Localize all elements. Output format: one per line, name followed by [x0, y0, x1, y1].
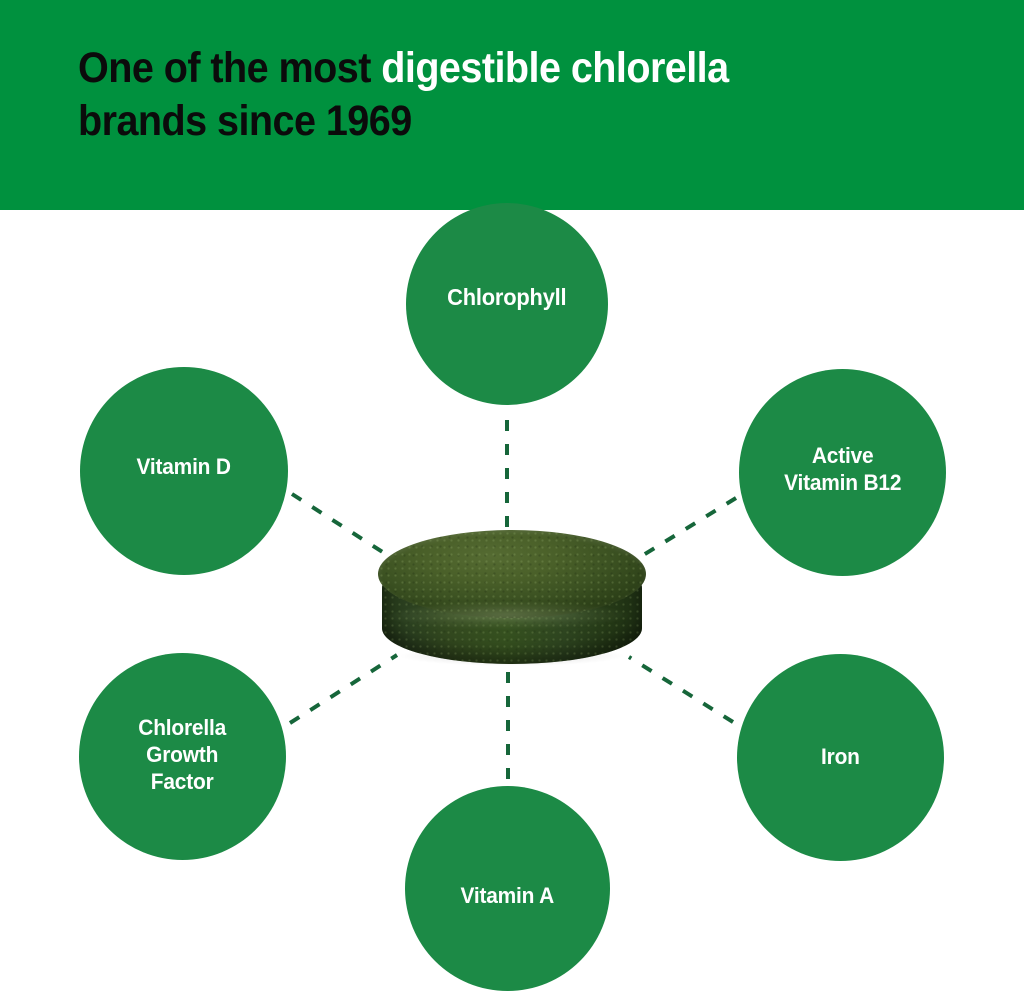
node-cgf-line1: Chlorella — [139, 715, 227, 740]
node-vitamin-b12[interactable]: ActiveVitamin B12 — [739, 369, 946, 576]
node-cgf-line3: Factor — [151, 769, 214, 794]
node-cgf-line2: Growth — [146, 742, 218, 767]
node-vitamin-a-label: Vitamin A — [451, 883, 564, 910]
node-vitamin-d-label: Vitamin D — [127, 454, 240, 481]
node-chlorophyll[interactable]: Chlorophyll — [406, 203, 608, 405]
node-vitamin-b12-line2: Vitamin B12 — [784, 470, 901, 495]
node-iron-label: Iron — [812, 744, 870, 771]
node-chlorophyll-label: Chlorophyll — [438, 283, 576, 311]
node-vitamin-b12-label: ActiveVitamin B12 — [774, 443, 910, 497]
node-chlorella-growth-factor[interactable]: ChlorellaGrowthFactor — [79, 653, 286, 860]
node-cgf-label: ChlorellaGrowthFactor — [129, 715, 236, 795]
node-vitamin-a[interactable]: Vitamin A — [405, 786, 610, 991]
infographic-canvas: One of the most digestible chlorella bra… — [0, 0, 1024, 994]
node-vitamin-d[interactable]: Vitamin D — [80, 367, 288, 575]
node-vitamin-b12-line1: Active — [812, 443, 874, 468]
chlorella-tablet-image — [376, 528, 648, 670]
node-iron[interactable]: Iron — [737, 654, 944, 861]
tablet-edge-highlight — [386, 602, 638, 636]
